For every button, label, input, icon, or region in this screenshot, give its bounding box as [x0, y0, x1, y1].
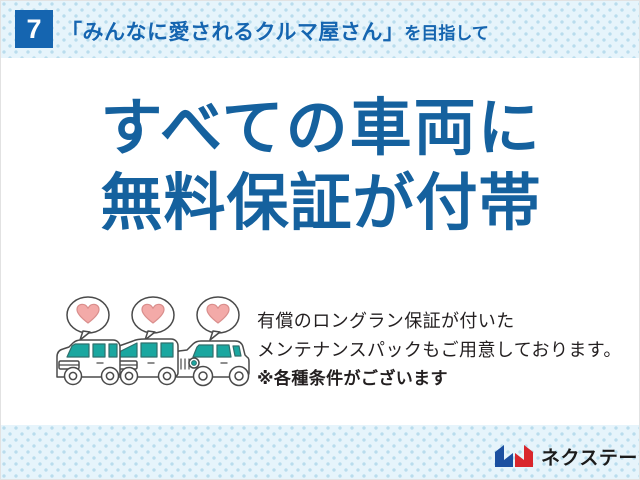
headline-line-1: すべての車両に [1, 97, 640, 160]
cars-illustration [53, 293, 253, 397]
headline-line-2: 無料保証が付帯 [1, 172, 640, 235]
step-number-badge: 7 [15, 10, 53, 48]
headline: すべての車両に 無料保証が付帯 [1, 97, 640, 235]
header-tagline-tail: を目指して [404, 24, 489, 43]
cars-illustration-svg [53, 293, 253, 397]
car-suv-right [173, 341, 249, 386]
brand-logo: ネクステージ [493, 441, 640, 471]
advertisement-banner: 7 「みんなに愛されるクルマ屋さん」を目指して すべての車両に 無料保証が付帯 [0, 0, 640, 480]
heart-speech-bubble-1 [67, 297, 109, 340]
car-minivan-middle [113, 339, 178, 385]
heart-speech-bubble-3 [197, 297, 239, 340]
car-kei-left [57, 340, 120, 385]
body-copy-line-2: メンテナンスパックもご用意しております。 [257, 336, 622, 365]
header-tagline: 「みんなに愛されるクルマ屋さん」を目指して [61, 16, 489, 46]
header-tagline-main: 「みんなに愛されるクルマ屋さん」 [61, 21, 404, 44]
body-copy-note: ※各種条件がございます [257, 365, 622, 393]
heart-speech-bubble-2 [132, 297, 174, 340]
nexstage-n-logo-icon [493, 443, 535, 469]
body-copy: 有償のロングラン保証が付いた メンテナンスパックもご用意しております。 ※各種条… [257, 307, 622, 393]
body-copy-line-1: 有償のロングラン保証が付いた [257, 307, 622, 336]
brand-name: ネクステージ [541, 443, 640, 470]
